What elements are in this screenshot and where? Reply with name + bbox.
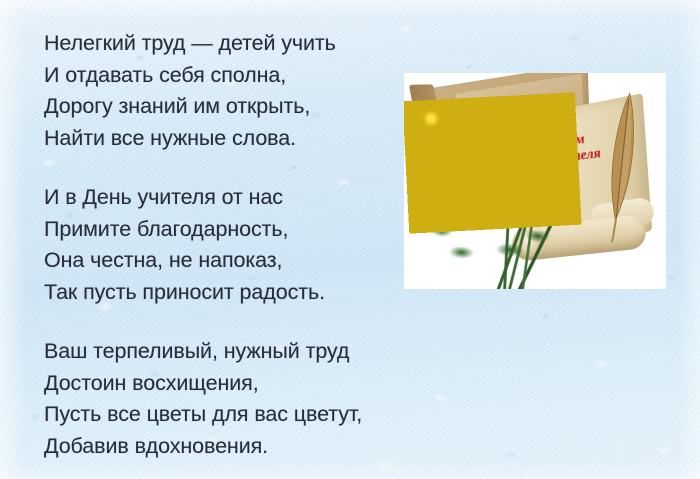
poem-stanza-1: Нелегкий труд — детей учить И отдавать с… [44,28,414,154]
poem-line: Достоин восхищения, [44,368,414,400]
poem-line: И отдавать себя сполна, [44,60,414,92]
poem-line: Так пусть приносит радость. [44,277,414,309]
poem-line: Ваш терпеливый, нужный труд [44,336,414,368]
greeting-card: Нелегкий труд — детей учить И отдавать с… [0,0,700,479]
poem-line: Она честна, не напоказ, [44,245,414,277]
poem-text: Нелегкий труд — детей учить И отдавать с… [44,28,414,462]
poem-stanza-2: И в День учителя от нас Примите благодар… [44,182,414,308]
bouquet-photo: С Днем Учителя [404,73,666,289]
poem-line: Нелегкий труд — детей учить [44,28,414,60]
poem-line: Пусть все цветы для вас цветут, [44,399,414,431]
poem-line: Примите благодарность, [44,214,414,246]
photo-scene: С Днем Учителя [404,73,666,289]
poem-line: Дорогу знаний им открыть, [44,91,414,123]
poem-stanza-3: Ваш терпеливый, нужный труд Достоин восх… [44,336,414,462]
poem-line: И в День учителя от нас [44,182,414,214]
rose-cluster [404,93,581,234]
poem-line: Добавив вдохновения. [44,431,414,463]
poem-line: Найти все нужные слова. [44,123,414,155]
